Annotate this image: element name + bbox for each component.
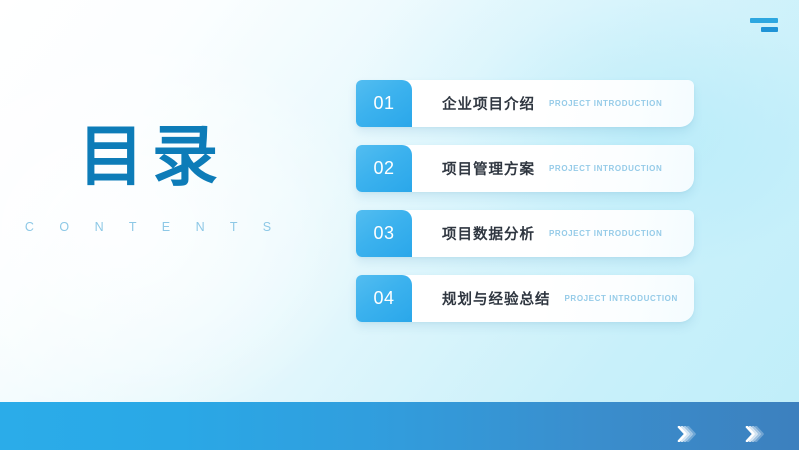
item-text-group: 项目数据分析 PROJECT INTRODUCTION bbox=[442, 210, 662, 257]
item-title: 项目数据分析 bbox=[442, 223, 535, 244]
item-subtitle: PROJECT INTRODUCTION bbox=[549, 99, 662, 108]
menu-icon-bar-top bbox=[750, 18, 778, 23]
contents-list: 01 企业项目介绍 PROJECT INTRODUCTION 02 项目管理方案… bbox=[356, 80, 696, 322]
footer-bar bbox=[0, 402, 799, 450]
item-text-group: 规划与经验总结 PROJECT INTRODUCTION bbox=[442, 275, 678, 322]
list-item[interactable]: 02 项目管理方案 PROJECT INTRODUCTION bbox=[356, 145, 696, 192]
item-title: 企业项目介绍 bbox=[442, 93, 535, 114]
item-text-group: 企业项目介绍 PROJECT INTRODUCTION bbox=[442, 80, 662, 127]
menu-icon-bar-bottom bbox=[761, 27, 778, 32]
item-title: 规划与经验总结 bbox=[442, 288, 551, 309]
item-number-badge: 01 bbox=[356, 80, 412, 127]
list-item[interactable]: 04 规划与经验总结 PROJECT INTRODUCTION bbox=[356, 275, 696, 322]
page-title: 目录 bbox=[8, 124, 296, 190]
page-title-block: 目录 C O N T E N T S bbox=[0, 124, 296, 234]
item-title: 项目管理方案 bbox=[442, 158, 535, 179]
list-item[interactable]: 01 企业项目介绍 PROJECT INTRODUCTION bbox=[356, 80, 696, 127]
item-number-badge: 03 bbox=[356, 210, 412, 257]
list-item[interactable]: 03 项目数据分析 PROJECT INTRODUCTION bbox=[356, 210, 696, 257]
item-number-badge: 04 bbox=[356, 275, 412, 322]
page-subtitle: C O N T E N T S bbox=[11, 220, 296, 234]
item-subtitle: PROJECT INTRODUCTION bbox=[565, 294, 678, 303]
slide-canvas: 目录 C O N T E N T S 01 企业项目介绍 PROJECT INT… bbox=[0, 0, 799, 450]
item-number-badge: 02 bbox=[356, 145, 412, 192]
hamburger-menu-icon[interactable] bbox=[750, 17, 778, 33]
item-subtitle: PROJECT INTRODUCTION bbox=[549, 229, 662, 238]
item-subtitle: PROJECT INTRODUCTION bbox=[549, 164, 662, 173]
item-text-group: 项目管理方案 PROJECT INTRODUCTION bbox=[442, 145, 662, 192]
